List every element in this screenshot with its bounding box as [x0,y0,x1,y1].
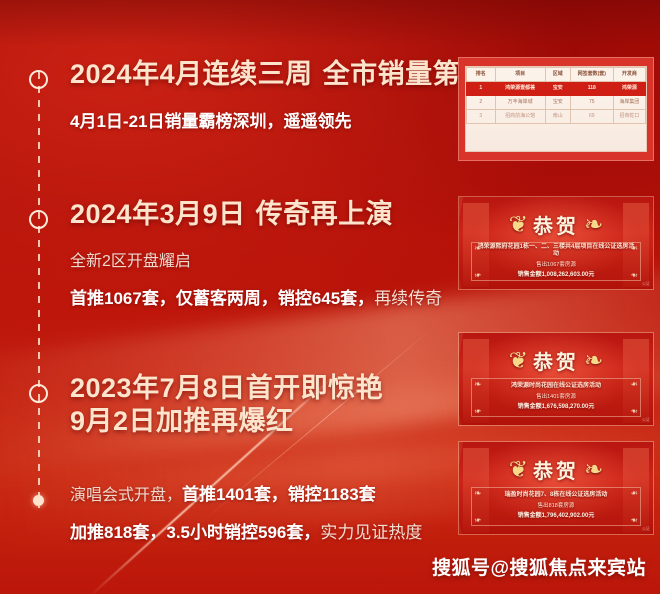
milestone-2-heading: 2024年3月9日传奇再上演 [70,198,442,231]
cell-count: 69 [570,110,613,124]
th-developer: 开发商 [613,68,645,82]
timeline-dashed-line [38,72,40,508]
milestone-2: 2024年3月9日传奇再上演 全新2区开盘耀启 首推1067套，仅蓄客两周，销控… [70,198,442,311]
cell-developer: 海岸集团 [613,96,645,110]
timeline-rail [29,58,49,510]
flourish-corner-icon: ❧ [624,405,638,415]
flourish-corner-icon: ❧ [474,405,488,415]
sohu-watermark: 搜狐号@搜狐焦点来宾站 [432,553,646,580]
laurel-left-icon: ❦ [509,349,528,372]
cell-project: 万丰海岸城 [495,96,545,110]
banner-line-1: 鸿荣源熙府花园1栋一、二、三楼共4层项目在线公证选房活动 [476,244,636,259]
poster-canvas: 2024年4月连续三周全市销量第1 4月1日-21日销量霸榜深圳，遥遥领先 20… [0,0,660,594]
milestone-1-heading: 2024年4月连续三周全市销量第1 [70,58,476,91]
cell-rank: 2 [467,96,496,110]
table-header-row: 排名 项目 区域 网签套数(套) 开发商 [467,68,646,82]
milestone-1-line-1: 4月1日-21日销量霸榜深圳，遥遥领先 [70,109,476,134]
laurel-left-icon: ❦ [509,213,528,236]
milestone-3-line-3: 加推818套，3.5小时销控596套， [70,523,320,542]
laurel-right-icon: ❧ [584,213,603,236]
milestone-3-line-row-2: 加推818套，3.5小时销控596套，实力见证热度 [70,520,422,545]
flourish-corner-icon: ❧ [474,489,488,499]
milestone-2-line-3: 再续传奇 [374,289,442,308]
cell-developer: 招商蛇口 [613,110,645,124]
milestone-2-heading-accent: 传奇再上演 [256,199,394,229]
milestone-3-line-row-1: 演唱会式开盘，首推1401套，销控1183套 [70,482,422,508]
flourish-corner-icon: ❧ [624,514,638,524]
flourish-corner-icon: ❧ [624,269,638,279]
banner-line-2: 售出1067套房源 [536,262,576,270]
cell-rank: 3 [467,110,496,124]
banner-title-row: ❦ 恭贺 ❧ [459,454,653,484]
banner-line-1: 鸿荣源时尚花园在线公证选房活动 [511,383,601,391]
flourish-corner-icon: ❧ [624,244,638,254]
milestone-3-heading-main: 2023年7月8日首开即惊艳 [70,372,422,405]
cell-district: 宝安 [545,96,570,110]
milestone-3-line-4: 实力见证热度 [320,523,422,542]
th-count: 网签套数(套) [570,68,613,82]
table-row: 1 鸿荣源壹都荟 宝安 118 鸿荣源 [467,82,646,96]
cell-district: 宝安 [545,82,570,96]
th-project: 项目 [495,68,545,82]
timeline-marker-2 [29,210,48,229]
milestone-2-heading-main: 2024年3月9日 [70,199,246,229]
banner-line-2: 售出818套房源 [538,503,575,511]
cell-rank: 1 [467,82,496,96]
banner-title: 恭贺 [533,210,579,239]
cell-district: 南山 [545,110,570,124]
banner-line-3: 销售金额1,796,402,902.00元 [518,513,595,521]
table-row: 2 万丰海岸城 宝安 75 海岸集团 [467,96,646,110]
milestone-1: 2024年4月连续三周全市销量第1 4月1日-21日销量霸榜深圳，遥遥领先 [70,58,476,134]
congrats-banner-2: ❦ 恭贺 ❧ ❧ ❧ ❧ ❧ 鸿荣源时尚花园在线公证选房活动 售出1401套房源… [458,332,654,426]
cell-developer: 鸿荣源 [613,82,645,96]
sales-rank-table-wrapper: 排名 项目 区域 网签套数(套) 开发商 1 鸿荣源壹都荟 宝安 118 鸿荣源 [465,66,647,152]
banner-line-2: 售出1401套房源 [536,394,576,402]
banner-art: ❦ 恭贺 ❧ ❧ ❧ ❧ ❧ 鸿荣源时尚花园在线公证选房活动 售出1401套房源… [459,333,653,425]
sales-rank-table: 排名 项目 区域 网签套数(套) 开发商 1 鸿荣源壹都荟 宝安 118 鸿荣源 [466,67,646,124]
flourish-corner-icon: ❧ [624,489,638,499]
timeline-end-dot [33,495,44,506]
banner-title: 恭贺 [533,346,579,375]
milestone-3-line-2: 首推1401套，销控1183套 [182,485,376,504]
laurel-right-icon: ❧ [584,458,603,481]
banner-art: ❦ 恭贺 ❧ ❧ ❧ ❧ ❧ 瑞盈时尚花园7、8栋在线公证选房活动 售出818套… [459,442,653,534]
th-rank: 排名 [467,68,496,82]
congrats-banner-3: ❦ 恭贺 ❧ ❧ ❧ ❧ ❧ 瑞盈时尚花园7、8栋在线公证选房活动 售出818套… [458,441,654,535]
timeline-marker-3 [29,384,48,403]
banner-line-3: 销售金额1,676,598,270.00元 [518,404,595,412]
milestone-3-line-1: 演唱会式开盘， [70,487,182,504]
table-row: 3 招商前海公馆 南山 69 招商蛇口 [467,110,646,124]
banner-line-3: 销售金额1,008,262,603.00元 [518,272,595,280]
laurel-left-icon: ❦ [509,458,528,481]
banner-title-row: ❦ 恭贺 ❧ [459,345,653,375]
milestone-2-line-2: 首推1067套，仅蓄客两周，销控645套， [70,289,374,308]
banner-plaque: ❧ ❧ ❧ ❧ 鸿荣源时尚花园在线公证选房活动 售出1401套房源 销售金额1,… [471,378,641,417]
banner-line-1: 瑞盈时尚花园7、8栋在线公证选房活动 [505,492,608,500]
milestone-1-heading-accent: 全市销量第1 [323,59,476,89]
banner-art: ❦ 恭贺 ❧ ❧ ❧ ❧ ❧ 鸿荣源熙府花园1栋一、二、三楼共4层项目在线公证选… [459,197,653,289]
milestone-2-line-2-row: 首推1067套，仅蓄客两周，销控645套，再续传奇 [70,286,442,311]
cell-project: 鸿荣源壹都荟 [495,82,545,96]
cell-count: 75 [570,96,613,110]
laurel-right-icon: ❧ [584,349,603,372]
flourish-corner-icon: ❧ [624,380,638,390]
banner-plaque: ❧ ❧ ❧ ❧ 瑞盈时尚花园7、8栋在线公证选房活动 售出818套房源 销售金额… [471,487,641,526]
milestone-1-heading-main: 2024年4月连续三周 [70,59,313,89]
cell-project: 招商前海公馆 [495,110,545,124]
banner-title-row: ❦ 恭贺 ❧ [459,209,653,239]
milestone-2-line-1: 全新2区开盘耀启 [70,249,442,274]
milestone-3: 2023年7月8日首开即惊艳 9月2日加推再爆红 演唱会式开盘，首推1401套，… [70,372,422,545]
flourish-corner-icon: ❧ [474,269,488,279]
top-vignette [0,0,660,46]
th-district: 区域 [545,68,570,82]
banner-stamp: 公证 [642,526,650,532]
flourish-corner-icon: ❧ [474,244,488,254]
sales-rank-card: 排名 项目 区域 网签套数(套) 开发商 1 鸿荣源壹都荟 宝安 118 鸿荣源 [458,57,654,161]
banner-plaque: ❧ ❧ ❧ ❧ 鸿荣源熙府花园1栋一、二、三楼共4层项目在线公证选房活动 售出1… [471,242,641,281]
timeline-marker-1 [29,70,48,89]
banner-stamp: 公证 [642,417,650,423]
congrats-banner-1: ❦ 恭贺 ❧ ❧ ❧ ❧ ❧ 鸿荣源熙府花园1栋一、二、三楼共4层项目在线公证选… [458,196,654,290]
flourish-corner-icon: ❧ [474,514,488,524]
flourish-corner-icon: ❧ [474,380,488,390]
cell-count: 118 [570,82,613,96]
banner-title: 恭贺 [533,455,579,484]
banner-stamp: 公证 [642,281,650,287]
milestone-3-heading-accent: 9月2日加推再爆红 [70,405,422,438]
